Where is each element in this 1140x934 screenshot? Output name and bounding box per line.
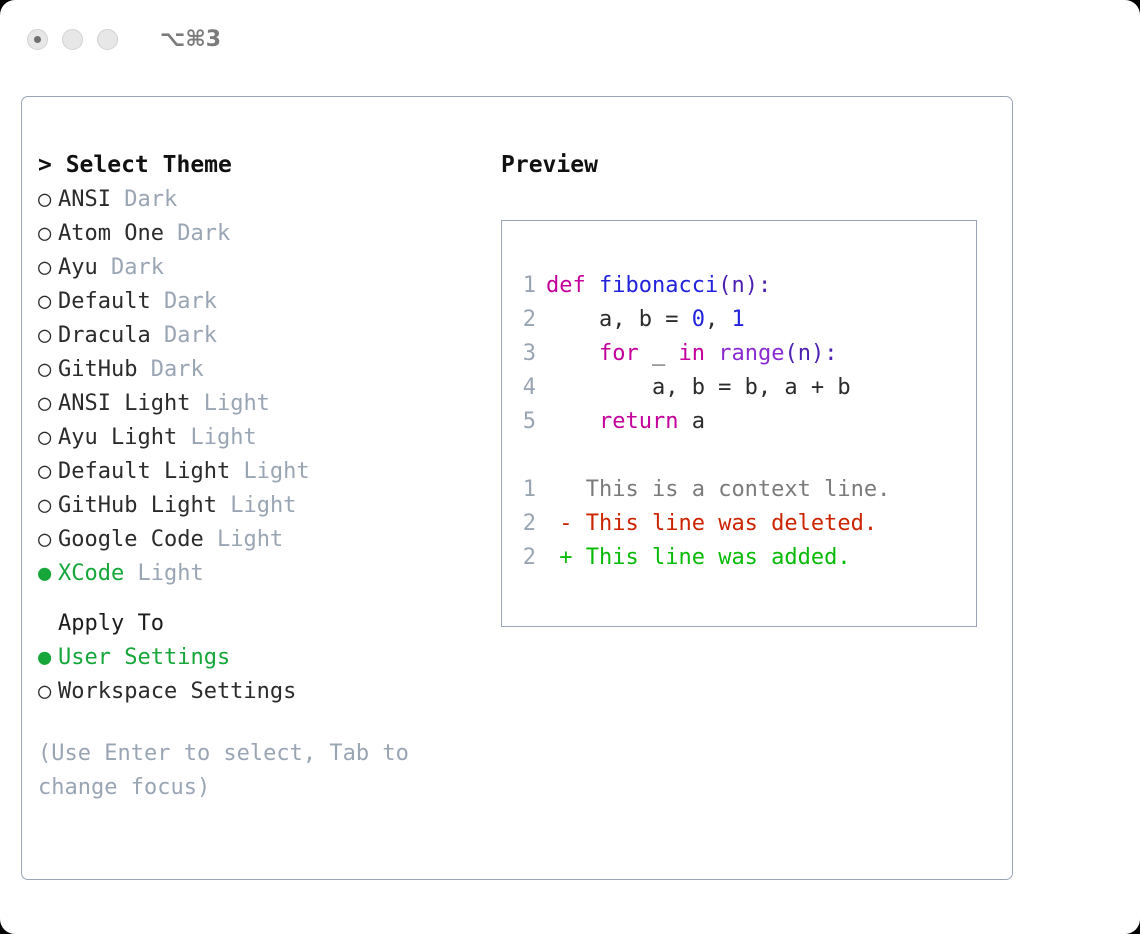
code-token: ): (745, 273, 772, 298)
spacer (204, 527, 217, 552)
title-bar: ⌥⌘3 (0, 0, 1140, 78)
radio-unselected-icon[interactable]: ○ (38, 387, 58, 421)
theme-kind-label: Light (217, 527, 283, 552)
theme-name-label: Default Light (58, 459, 230, 484)
theme-kind-label: Light (230, 493, 296, 518)
radio-unselected-icon[interactable]: ○ (38, 319, 58, 353)
spacer (217, 493, 230, 518)
theme-list-item[interactable]: ○ANSI Light Light (38, 387, 488, 421)
radio-unselected-icon[interactable]: ○ (38, 353, 58, 387)
theme-list-item[interactable]: ○ANSI Dark (38, 183, 488, 217)
radio-unselected-icon[interactable]: ○ (38, 489, 58, 523)
diff-text: This line was deleted. (573, 511, 878, 536)
diff-sample-block: 1 This is a context line.2 - This line w… (514, 473, 970, 575)
diff-gutter-pad (546, 545, 559, 570)
syntax-sample-block: 1def fibonacci(n):2 a, b = 0, 13 for _ i… (514, 269, 970, 439)
code-token: return (599, 409, 678, 434)
line-number: 1 (514, 473, 536, 507)
theme-name-label: Atom One (58, 221, 164, 246)
theme-list-item[interactable]: ●XCode Light (38, 557, 488, 591)
code-line: 1def fibonacci(n): (514, 269, 970, 303)
line-number: 2 (514, 507, 536, 541)
theme-kind-label: Light (137, 561, 203, 586)
theme-kind-label: Dark (177, 221, 230, 246)
code-token: a, b = b, a + b (546, 375, 851, 400)
theme-list-item[interactable]: ○Ayu Dark (38, 251, 488, 285)
spacer (177, 425, 190, 450)
diff-marker: + (559, 545, 572, 570)
spacer (151, 323, 164, 348)
active-indicator-dot (34, 36, 41, 43)
theme-name-label: Default (58, 289, 151, 314)
radio-unselected-icon[interactable]: ○ (38, 183, 58, 217)
radio-unselected-icon[interactable]: ○ (38, 421, 58, 455)
preview-column: Preview 1def fibonacci(n):2 a, b = 0, 13… (501, 147, 991, 627)
theme-name-label: Dracula (58, 323, 151, 348)
diff-line: 2 + This line was added. (514, 541, 970, 575)
theme-name-label: Ayu (58, 255, 98, 280)
radio-unselected-icon[interactable]: ○ (38, 217, 58, 251)
theme-list-item[interactable]: ○Atom One Dark (38, 217, 488, 251)
close-window-light[interactable] (27, 29, 48, 50)
apply-to-item[interactable]: ○Workspace Settings (38, 675, 488, 709)
main-panel: > Select Theme ○ANSI Dark○Atom One Dark○… (21, 96, 1013, 880)
preview-heading: Preview (501, 147, 991, 183)
diff-text: This line was added. (573, 545, 851, 570)
apply-to-list: ●User Settings○Workspace Settings (38, 641, 488, 709)
code-line: 3 for _ in range(n): (514, 337, 970, 371)
line-number: 1 (514, 269, 536, 303)
spacer (98, 255, 111, 280)
theme-name-label: Google Code (58, 527, 204, 552)
traffic-light-group (27, 29, 118, 50)
theme-list-item[interactable]: ○GitHub Light Light (38, 489, 488, 523)
theme-name-label: GitHub Light (58, 493, 217, 518)
theme-kind-label: Dark (124, 187, 177, 212)
apply-to-label: Workspace Settings (58, 679, 296, 704)
theme-selection-column: > Select Theme ○ANSI Dark○Atom One Dark○… (38, 147, 488, 805)
select-theme-heading: > Select Theme (38, 147, 488, 183)
line-number: 2 (514, 303, 536, 337)
theme-list-item[interactable]: ○Google Code Light (38, 523, 488, 557)
theme-name-label: ANSI Light (58, 391, 190, 416)
line-number: 3 (514, 337, 536, 371)
spacer (111, 187, 124, 212)
radio-unselected-icon[interactable]: ○ (38, 455, 58, 489)
diff-text: This is a context line. (573, 477, 891, 502)
code-line: 2 a, b = 0, 1 (514, 303, 970, 337)
code-token: , (705, 307, 732, 332)
keyboard-shortcut-label: ⌥⌘3 (160, 27, 221, 52)
list-spacer (38, 591, 488, 607)
theme-list-item[interactable]: ○Ayu Light Light (38, 421, 488, 455)
theme-name-label: GitHub (58, 357, 137, 382)
theme-list-item[interactable]: ○Dracula Dark (38, 319, 488, 353)
diff-line: 2 - This line was deleted. (514, 507, 970, 541)
spacer (190, 391, 203, 416)
preview-box: 1def fibonacci(n):2 a, b = 0, 13 for _ i… (501, 220, 977, 627)
code-token: def (546, 273, 586, 298)
theme-kind-label: Dark (151, 357, 204, 382)
diff-gutter-pad (546, 511, 559, 536)
theme-name-label: Ayu Light (58, 425, 177, 450)
theme-kind-label: Dark (164, 289, 217, 314)
code-diff-gap (514, 439, 970, 473)
radio-unselected-icon[interactable]: ○ (38, 675, 58, 709)
theme-list: ○ANSI Dark○Atom One Dark○Ayu Dark○Defaul… (38, 183, 488, 591)
theme-kind-label: Light (243, 459, 309, 484)
apply-to-label: User Settings (58, 645, 230, 670)
radio-unselected-icon[interactable]: ○ (38, 523, 58, 557)
line-number: 5 (514, 405, 536, 439)
theme-kind-label: Light (204, 391, 270, 416)
code-token: _ (639, 341, 679, 366)
code-token: a, b = (546, 307, 692, 332)
diff-gutter-pad (546, 477, 559, 502)
code-line: 5 return a (514, 405, 970, 439)
code-token: a (678, 409, 705, 434)
theme-list-item[interactable]: ○Default Dark (38, 285, 488, 319)
app-window: ⌥⌘3 > Select Theme ○ANSI Dark○Atom One D… (0, 0, 1140, 934)
diff-marker: - (559, 511, 572, 536)
code-token: n (731, 273, 744, 298)
maximize-window-light[interactable] (97, 29, 118, 50)
spacer (137, 357, 150, 382)
apply-to-heading: Apply To (38, 607, 488, 641)
line-number: 2 (514, 541, 536, 575)
spacer (151, 289, 164, 314)
code-line: 4 a, b = b, a + b (514, 371, 970, 405)
code-token: ( (718, 273, 731, 298)
radio-selected-icon[interactable]: ● (38, 641, 58, 675)
spacer (124, 561, 137, 586)
radio-unselected-icon[interactable]: ○ (38, 251, 58, 285)
code-token: 1 (731, 307, 744, 332)
theme-list-item[interactable]: ○Default Light Light (38, 455, 488, 489)
theme-name-label: ANSI (58, 187, 111, 212)
apply-to-item[interactable]: ●User Settings (38, 641, 488, 675)
theme-name-label: XCode (58, 561, 124, 586)
radio-selected-icon[interactable]: ● (38, 557, 58, 591)
minimize-window-light[interactable] (62, 29, 83, 50)
preview-code-area: 1def fibonacci(n):2 a, b = 0, 13 for _ i… (514, 269, 970, 575)
diff-line: 1 This is a context line. (514, 473, 970, 507)
code-token: (n): (784, 341, 837, 366)
code-token: for (599, 341, 639, 366)
theme-kind-label: Light (190, 425, 256, 450)
radio-unselected-icon[interactable]: ○ (38, 285, 58, 319)
code-token (546, 341, 599, 366)
code-token (705, 341, 718, 366)
code-token: 0 (692, 307, 705, 332)
diff-marker (559, 477, 572, 502)
theme-kind-label: Dark (111, 255, 164, 280)
code-token: in (678, 341, 705, 366)
theme-list-item[interactable]: ○GitHub Dark (38, 353, 488, 387)
hint-spacer (38, 709, 488, 737)
spacer (164, 221, 177, 246)
spacer (230, 459, 243, 484)
theme-kind-label: Dark (164, 323, 217, 348)
keyboard-hint-text: (Use Enter to select, Tab to change focu… (38, 737, 448, 805)
line-number: 4 (514, 371, 536, 405)
code-token (586, 273, 599, 298)
code-token: range (718, 341, 784, 366)
code-token (546, 409, 599, 434)
code-token: fibonacci (599, 273, 718, 298)
